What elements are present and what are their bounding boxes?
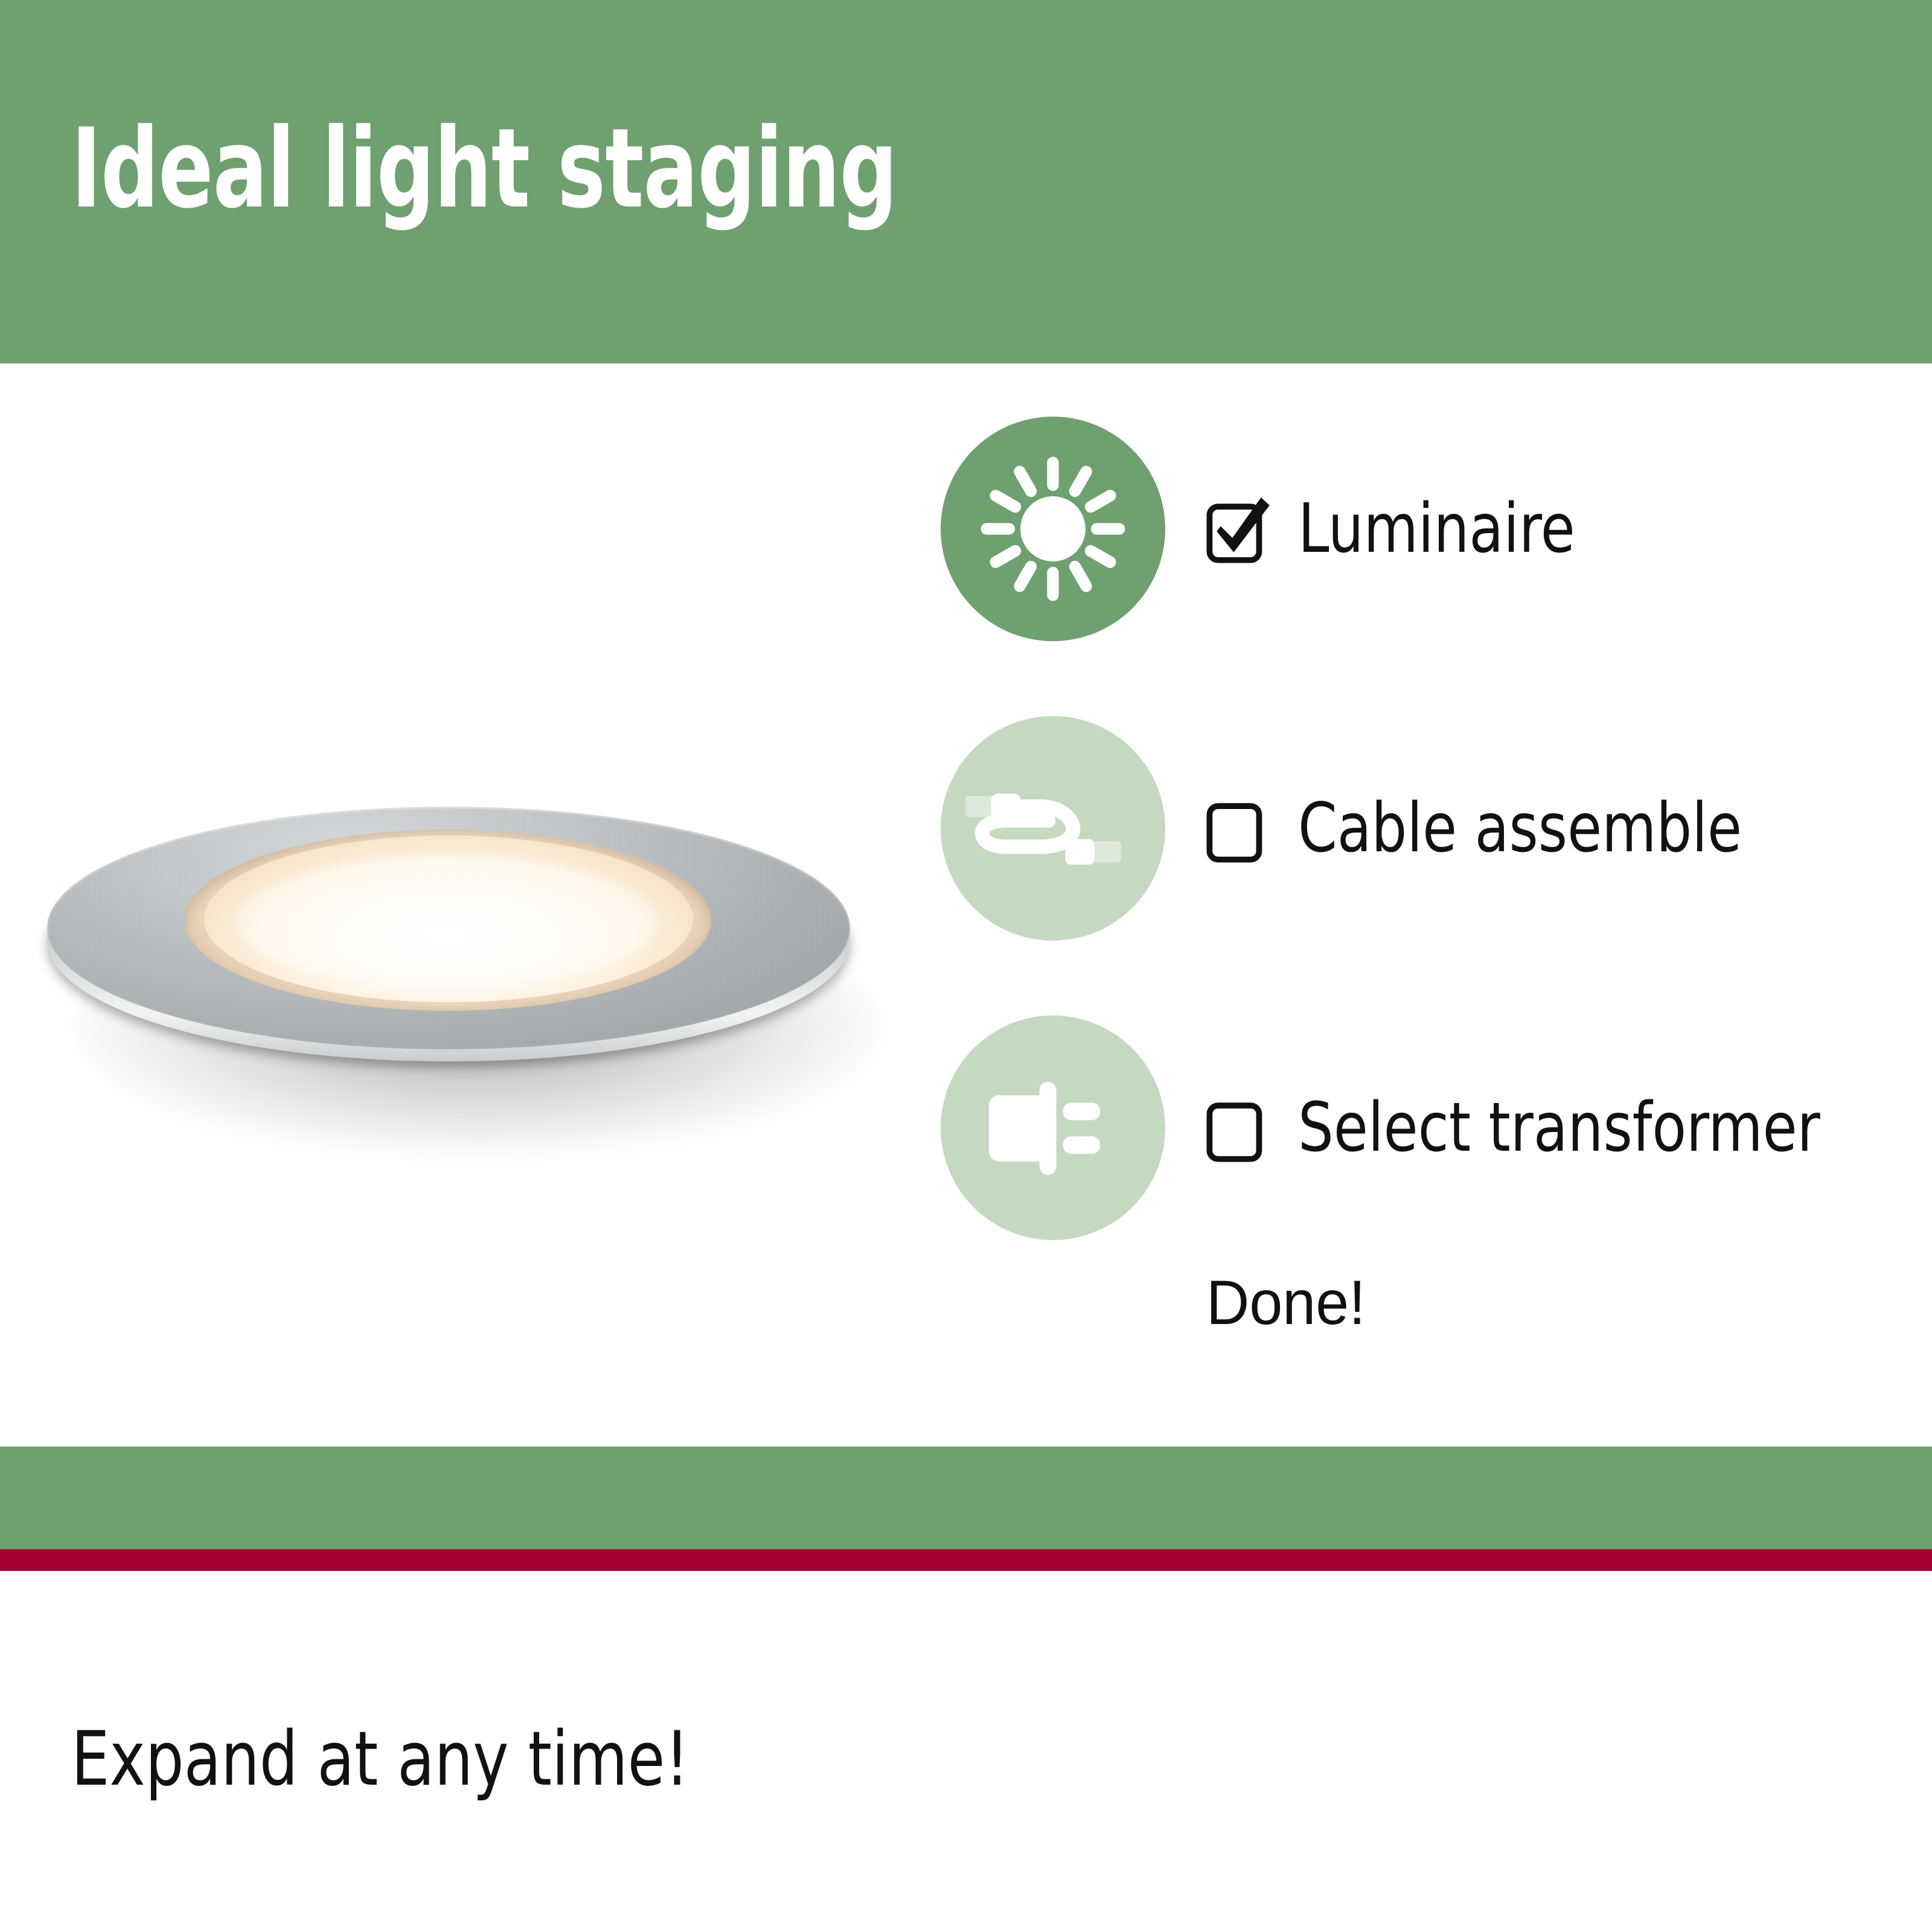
page-title: Ideal light staging <box>71 114 897 223</box>
done-text: Done! <box>1206 1271 1366 1334</box>
header-bar: Ideal light staging <box>0 0 1932 363</box>
checkbox-unchecked-icon[interactable] <box>1206 797 1271 862</box>
footer-note: Expand at any time! <box>71 1722 689 1797</box>
footer-green-bar <box>0 1447 1932 1549</box>
checklist: Luminaire <box>941 417 1919 1315</box>
checkbox-unchecked-icon[interactable] <box>1206 1096 1271 1162</box>
checklist-row-luminaire[interactable]: Luminaire <box>941 417 1919 646</box>
checklist-label-group-select-transformer: Select transformer <box>1206 1016 1866 1240</box>
luminaire-light-glow <box>235 855 658 988</box>
product-image-recessed-luminaire <box>42 803 918 1117</box>
checklist-item-label: Select transformer <box>1298 1094 1820 1162</box>
footer-red-bar <box>0 1549 1932 1571</box>
plug-icon <box>941 1016 1165 1240</box>
sun-icon <box>941 417 1165 641</box>
checkbox-checked-icon[interactable] <box>1206 497 1271 563</box>
checklist-row-cable-assemble[interactable]: Cable assemble <box>941 716 1919 945</box>
checklist-row-select-transformer[interactable]: Select transformer <box>941 1016 1919 1245</box>
checklist-label-group-cable-assemble: Cable assemble <box>1206 716 1780 941</box>
luminaire-body <box>42 803 863 1069</box>
checklist-item-label: Cable assemble <box>1298 795 1742 862</box>
checklist-item-label: Luminaire <box>1298 495 1575 563</box>
checklist-label-group-luminaire: Luminaire <box>1206 417 1599 641</box>
cable-icon <box>941 716 1165 941</box>
